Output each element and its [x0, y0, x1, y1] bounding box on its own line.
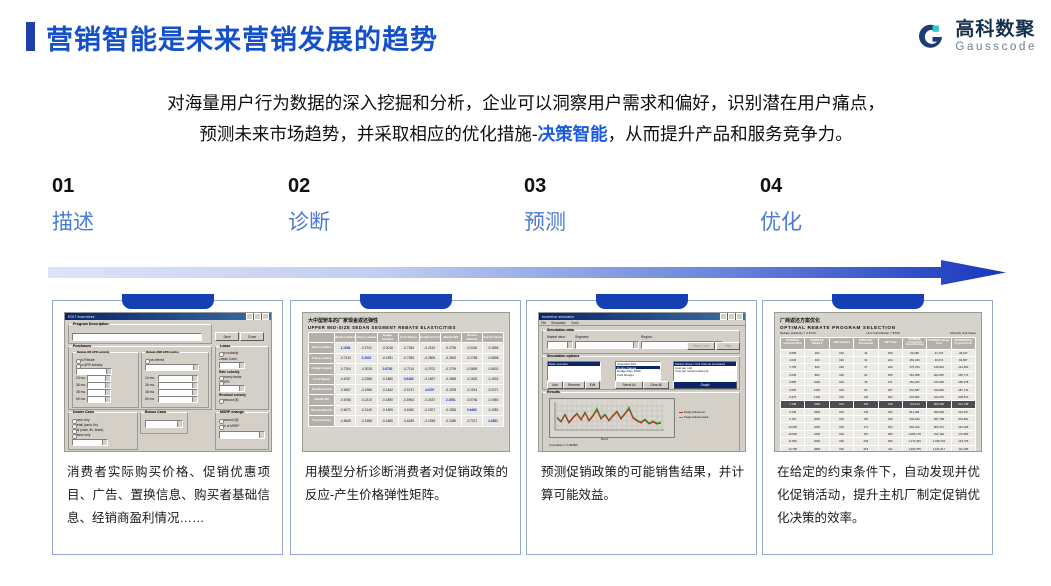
- table-row: 7.1951600190125318722,110509,300212,768: [781, 401, 976, 408]
- table-cell: 1,173,439: [902, 438, 926, 445]
- table-cell: -0.2207: [419, 405, 440, 415]
- table-row: Honda Accord-0.5497-0.1986-0.1642-0.5747…: [309, 384, 504, 394]
- table-cell: 1800: [805, 408, 829, 415]
- row-header: Dodge Intrepid: [309, 364, 335, 374]
- combo-term-36: 36 mo.: [145, 383, 155, 387]
- combo-60-input[interactable]: [158, 396, 198, 403]
- radio-apr[interactable]: APR: [219, 380, 230, 384]
- table-cell: -0.7204: [335, 364, 356, 374]
- table-cell: 140: [854, 408, 878, 415]
- table-cell: -0.2669: [440, 374, 461, 384]
- group-purchases: Purchases Rebate OR APR subsidy no Rebat…: [68, 346, 212, 410]
- table-cell: 190: [829, 445, 853, 452]
- table-cell: 812,381: [902, 408, 926, 415]
- combo-term-24: 24 mo.: [145, 376, 155, 380]
- table-row: 0.1152000190156349902,640697,798204,801: [781, 416, 976, 423]
- list-item[interactable]: Cost per incremental unit: [674, 369, 736, 373]
- group-title: Rebate AND APR combo: [145, 350, 180, 354]
- screenshot-optimal-rebate: 厂商返还方案优化 OPTIMAL REBATE PROGRAM SELECTIO…: [774, 312, 982, 452]
- column-header: FORECAST Incremental: [854, 337, 878, 349]
- group-rebate-apr: Rebate OR APR subsidy no Rebate no APR s…: [72, 352, 139, 408]
- step-02-label: 诊断: [288, 212, 518, 233]
- table-cell: 541,587: [902, 386, 926, 393]
- close-button[interactable]: Close: [240, 332, 264, 341]
- table-cell: 276,949: [927, 379, 951, 386]
- table-cell: -0.1642: [377, 384, 398, 394]
- table-cell: 204,287: [927, 371, 951, 378]
- correlation-text: (Correlation = 0.98386): [549, 443, 578, 447]
- window-title: EDIT incentives: [66, 315, 95, 319]
- table-cell: 190: [829, 430, 853, 437]
- group-simulation-options: Simulation options Base scenario Chevrol…: [542, 356, 740, 390]
- table-cell: -0.0690: [461, 364, 482, 374]
- table-cell: 190: [829, 386, 853, 393]
- radio-money-factor[interactable]: money factor: [219, 375, 241, 379]
- lead-line-1: 对海量用户行为数据的深入挖掘和分析，企业可以洞察用户需求和偏好，识别潜在用户痛点…: [167, 93, 885, 113]
- combo-term-60: 60 mo.: [145, 397, 155, 401]
- group-title: Program Description: [72, 322, 110, 326]
- table-cell: 255: [878, 371, 902, 378]
- term-24-input[interactable]: [87, 375, 111, 382]
- table-row: 0.8952001901620993,26841,71048,447: [781, 349, 976, 356]
- progress-arrow: [48, 258, 1008, 288]
- scenarios-listbox[interactable]: Base scenario: [547, 361, 601, 381]
- remove-button[interactable]: Remove: [563, 381, 585, 389]
- lead-line-2a: 预测未来市场趋势，并采取相应的优化措施-: [199, 124, 537, 144]
- table-cell: 204,801: [951, 416, 975, 423]
- table-header-row: EXTERNAL Customer Price INCENTIVE Rebate…: [781, 337, 976, 349]
- market-view-label: Market view:: [547, 335, 566, 339]
- card-optimize[interactable]: 厂商返还方案优化 OPTIMAL REBATE PROGRAM SELECTIO…: [762, 300, 993, 555]
- slide-header: 营销智能是未来营销发展的趋势 高科数聚 Gausscode: [0, 0, 1051, 70]
- table-cell: 16: [854, 349, 878, 356]
- table-cell: 156,771: [951, 371, 975, 378]
- radio-lease-only[interactable]: lease only: [72, 433, 90, 437]
- table-cell: 47: [854, 364, 878, 371]
- column-header: Dodge Intrepid: [377, 333, 398, 343]
- table-cell: 422,970: [927, 393, 951, 400]
- card-caption: 预测促销政策的可能销售结果，并计算可能效益。: [541, 461, 744, 507]
- table-cell: -0.7093: [398, 353, 419, 363]
- list-item[interactable]: Ford Ranger: [616, 373, 660, 377]
- menu-file[interactable]: File: [541, 321, 546, 325]
- group-regions: Region(s): Midwest Northeast Southeast S…: [271, 378, 272, 420]
- table-cell: 190: [829, 401, 853, 408]
- rate-input[interactable]: [219, 385, 245, 392]
- table-cell: 48,447: [951, 349, 975, 356]
- rebate-table: EXTERNAL Customer Price INCENTIVE Rebate…: [780, 337, 976, 453]
- group-title: Lease: [219, 344, 231, 348]
- term-48: 48 mo.: [76, 390, 86, 394]
- radio-retail[interactable]: retail (cash, fin): [72, 423, 98, 427]
- group-msrp-change: MSRP change amount ($) % of MSRP: [215, 412, 269, 450]
- table-cell: -0.6189: [398, 416, 419, 426]
- table-row: 10.0352200190171364992,910803,471191,028: [781, 423, 976, 430]
- step-01: 01 描述: [52, 176, 282, 233]
- table-cell: 10.535: [781, 430, 805, 437]
- table-row: Buick LeSabre1.1548-0.2742-0.2018-0.7254…: [309, 343, 504, 353]
- table-row: Toyota Camry-0.5645-0.1988-0.1680-0.6189…: [309, 416, 504, 426]
- table-cell: -0.5747: [398, 384, 419, 394]
- column-header: EXTERNAL Customer Price: [781, 337, 805, 349]
- table-row: 0.3751400190109302631,852422,970208,872: [781, 393, 976, 400]
- matrix-title-en: UPPER MID-SIZE SEDAN SEGMENT REBATE ELAS…: [308, 325, 504, 330]
- matrix-title-cn: 大中型轿车的厂家现金返还弹性: [308, 317, 504, 324]
- card-caption: 消费者实际购买价格、促销优惠项目、广告、置换信息、购买者基础信息、经销商盈利情况…: [67, 461, 270, 530]
- lease-cash-input[interactable]: [219, 362, 245, 369]
- segment-select[interactable]: [575, 341, 639, 349]
- table-cell: 0.195: [781, 408, 805, 415]
- chart-xlabel: Month: [601, 438, 608, 441]
- table-cell: 209: [878, 349, 902, 356]
- table-cell: -0.2742: [356, 343, 377, 353]
- combo-24-input[interactable]: [158, 375, 198, 382]
- table-row: 0.885100019078271451,023276,949180,378: [781, 379, 976, 386]
- table-row: Dodge Intrepid-0.7204-0.20280.8752-0.711…: [309, 364, 504, 374]
- table-cell: 11.845: [781, 438, 805, 445]
- column-header: Toyota Camry: [482, 333, 503, 343]
- table-cell: -0.2192: [419, 343, 440, 353]
- table-cell: 803,471: [927, 423, 951, 430]
- column-header: INCENTIVE Rebate $: [805, 337, 829, 349]
- step-03-label: 预测: [524, 212, 754, 233]
- radio-no-rebate[interactable]: no Rebate: [76, 358, 95, 362]
- list-item[interactable]: Base scenario: [548, 362, 600, 366]
- table-cell: 212,768: [951, 401, 975, 408]
- table-cell: 697,798: [927, 416, 951, 423]
- lead-highlight: 决策智能: [538, 124, 608, 144]
- select-all-button[interactable]: Select All: [615, 381, 643, 389]
- column-header: INCREMENTAL Program Profit: [951, 337, 975, 349]
- radio-amount[interactable]: amount ($): [219, 398, 238, 402]
- clear-all-button[interactable]: Clear All: [643, 381, 669, 389]
- table-cell: 2.2622: [356, 353, 377, 363]
- table-cell: -0.1500: [461, 374, 482, 384]
- table-cell: 109: [854, 393, 878, 400]
- table-cell: 318: [878, 401, 902, 408]
- table-cell: -0.0808: [482, 353, 503, 363]
- table-row: 0.665120019094287541,587342,846187,741: [781, 386, 976, 393]
- msrp-input[interactable]: [219, 431, 265, 439]
- table-cell: -0.2794: [440, 364, 461, 374]
- table-row: 1.73560019047240275,754145,842134,502: [781, 364, 976, 371]
- table-cell: -0.0602: [482, 364, 503, 374]
- legend-label: Dodge Dakota actual: [684, 416, 708, 419]
- gausscode-logo-icon: [914, 20, 948, 54]
- column-header: Ford Taurus: [398, 333, 419, 343]
- card-caption: 用模型分析诊断消费者对促销政策的反应-产生价格弹性矩阵。: [305, 461, 508, 507]
- table-cell: -0.2288: [356, 374, 377, 384]
- table-cell: -0.2602: [440, 353, 461, 363]
- table-cell: 600: [805, 364, 829, 371]
- table-cell: 275,754: [902, 364, 926, 371]
- edit-button[interactable]: Edit: [585, 381, 600, 389]
- card-predict[interactable]: Incentive simulator File Simulation Tool…: [526, 300, 757, 555]
- table-cell: 380: [878, 430, 902, 437]
- group-title: Simulation options: [546, 354, 580, 358]
- table-row: 0.1951800190140333812,381599,906212,427: [781, 408, 976, 415]
- card-caption: 在给定的约束条件下，自动发现并优化促销活动，提升主机厂制定促销优化决策的效率。: [777, 461, 980, 530]
- table-row: Chevy Lumina-0.73102.2622-0.1991-0.7093-…: [309, 353, 504, 363]
- table-cell: -0.2806: [419, 353, 440, 363]
- table-cell: -0.1914: [461, 384, 482, 394]
- table-cell: -0.0240: [461, 343, 482, 353]
- column-header: APR Incentive: [829, 337, 853, 349]
- table-cell: -0.2271: [482, 384, 503, 394]
- term-36-input[interactable]: [87, 382, 111, 389]
- table-cell: 0.375: [781, 393, 805, 400]
- table-cell: -0.7110: [398, 364, 419, 374]
- term-24: 24 mo.: [76, 376, 86, 380]
- row-header: Ford Taurus: [309, 374, 335, 384]
- radio-no-subsidy[interactable]: no subsidy: [219, 351, 238, 355]
- step-03: 03 预测: [524, 176, 754, 233]
- group-lease: Lease no subsidy Lease Cash: Rate subsid…: [215, 346, 269, 410]
- logo-text: 高科数聚 Gausscode: [955, 20, 1037, 54]
- card-row: EDIT incentives Program Description Purc…: [0, 297, 1051, 559]
- table-cell: 94: [854, 386, 878, 393]
- card-tab: [360, 294, 452, 309]
- table-cell: 1,263,705: [902, 445, 926, 452]
- table-cell: 1.1548: [335, 343, 356, 353]
- group-results: Results: [542, 392, 740, 452]
- table-cell: 0.665: [781, 386, 805, 393]
- rebate-title-en: OPTIMAL REBATE PROGRAM SELECTION: [780, 325, 976, 330]
- combo-48-input[interactable]: [158, 389, 198, 396]
- graph-button[interactable]: Graph: [673, 381, 737, 389]
- group-rebate-apr-combo: Rebate AND APR combo not offered 24 mo. …: [141, 352, 209, 408]
- brand-logo: 高科数聚 Gausscode: [914, 20, 1037, 54]
- table-cell: 224: [878, 356, 902, 363]
- table-cell: -0.7310: [335, 353, 356, 363]
- step-labels: 01 描述 02 诊断 03 预测 04 优化: [52, 176, 1000, 248]
- table-cell: -0.6062: [398, 405, 419, 415]
- step-02: 02 诊断: [288, 176, 518, 233]
- start-curve-button[interactable]: Start Curve: [687, 342, 715, 350]
- step-04-label: 优化: [760, 212, 990, 233]
- table-cell: 212,427: [951, 408, 975, 415]
- models-listbox[interactable]: Chevrolet S10 Dodge Dakota Dodge Ram 150…: [615, 361, 661, 381]
- bonus-cash-input[interactable]: [145, 420, 183, 428]
- table-row: Nissan Maxima-0.6071-0.2149-0.1869-0.606…: [309, 405, 504, 415]
- save-button[interactable]: Save: [215, 332, 239, 341]
- table-cell: 190: [829, 438, 853, 445]
- logo-text-en: Gausscode: [955, 42, 1037, 54]
- table-cell: 2800: [805, 445, 829, 452]
- table-cell: 200: [805, 349, 829, 356]
- table-cell: -0.1890: [377, 395, 398, 405]
- table-cell: -0.2702: [419, 364, 440, 374]
- step-01-number: 01: [52, 176, 282, 196]
- group-bonus-cash: Bonus Cash: [140, 412, 188, 434]
- table-cell: 218: [854, 445, 878, 452]
- group-title: MSRP change: [219, 410, 245, 414]
- table-cell: -0.1991: [377, 353, 398, 363]
- step-01-label: 描述: [52, 212, 282, 233]
- menu-tools[interactable]: Tools: [571, 321, 578, 325]
- table-cell: 992,910: [902, 423, 926, 430]
- step-04-number: 04: [760, 176, 990, 196]
- table-cell: -0.2293: [440, 384, 461, 394]
- table-cell: 631,852: [902, 393, 926, 400]
- table-cell: -0.1986: [356, 384, 377, 394]
- table-cell: 342,846: [927, 386, 951, 393]
- table-cell: 0.635: [781, 371, 805, 378]
- table-cell: 800: [805, 371, 829, 378]
- table-cell: 190: [829, 423, 853, 430]
- group-dealer-cash: Dealer Cash cash only retail (cash, fin)…: [68, 412, 138, 450]
- table-cell: 190: [829, 393, 853, 400]
- table-cell: -0.1936: [419, 416, 440, 426]
- table-cell: 451,023: [902, 379, 926, 386]
- table-cell: -0.1680: [377, 416, 398, 426]
- table-cell: -0.2794: [440, 343, 461, 353]
- rebate-value-input[interactable]: [76, 368, 112, 375]
- table-cell: 4.0257: [419, 384, 440, 394]
- radio-all[interactable]: all (cash, fin, lease): [72, 428, 103, 432]
- table-cell: 10.035: [781, 423, 805, 430]
- column-header: Honda Accord: [419, 333, 440, 343]
- table-cell: -0.2018: [377, 343, 398, 353]
- rebate-elasticity: Rebate elasticity = 0.8712: [780, 331, 816, 335]
- description-input[interactable]: [72, 333, 202, 341]
- table-cell: 41,710: [927, 349, 951, 356]
- group-title: Dealer Cash: [72, 410, 95, 414]
- region-label: Region:: [641, 335, 652, 339]
- table-cell: -0.6904: [398, 395, 419, 405]
- step-04: 04 优化: [760, 176, 990, 233]
- term-60-input[interactable]: [87, 396, 111, 403]
- combo-input[interactable]: [145, 364, 199, 371]
- table-cell: 2000: [805, 416, 829, 423]
- table-cell: 333: [878, 408, 902, 415]
- table-cell: 722,110: [902, 401, 926, 408]
- table-cell: 902,640: [902, 416, 926, 423]
- menu-simulation[interactable]: Simulation: [551, 321, 566, 325]
- column-header: Nissan Maxima: [461, 333, 482, 343]
- table-cell: 145,842: [927, 364, 951, 371]
- table-cell: 191,028: [951, 423, 975, 430]
- rebate-title-cn: 厂商返还方案优化: [780, 317, 976, 324]
- legend-label: Dodge Dakota est.: [684, 411, 705, 414]
- table-cell: -0.1960: [482, 395, 503, 405]
- radio-cash-only[interactable]: cash only: [72, 418, 89, 422]
- table-cell: 400: [805, 356, 829, 363]
- table-cell: 170,982: [951, 430, 975, 437]
- table-cell: 2600: [805, 438, 829, 445]
- market-view-select[interactable]: [547, 341, 573, 349]
- table-row: Ford Taurus-0.6787-0.2288-0.18600.9480-0…: [309, 374, 504, 384]
- table-row: 0.63580019062255361,058204,287156,771: [781, 371, 976, 378]
- group-title: Rebate OR APR subsidy: [76, 350, 110, 354]
- table-cell: 287: [878, 386, 902, 393]
- table-cell: -0.1860: [377, 374, 398, 384]
- table-cell: -0.1902: [482, 374, 503, 384]
- table-cell: 1400: [805, 393, 829, 400]
- legend-item-actual: Dodge Dakota actual: [679, 416, 708, 419]
- card-describe[interactable]: EDIT incentives Program Description Purc…: [52, 300, 283, 555]
- card-diagnose[interactable]: 大中型轿车的厂家现金返还弹性 UPPER MID-SIZE SEDAN SEGM…: [290, 300, 521, 555]
- row-header: Toyota Camry: [309, 416, 335, 426]
- card-tab: [596, 294, 688, 309]
- table-cell: 125: [854, 401, 878, 408]
- card-tab: [122, 294, 214, 309]
- combo-36-input[interactable]: [158, 382, 198, 389]
- table-cell: 184,329: [902, 356, 926, 363]
- table-cell: -0.1756: [461, 353, 482, 363]
- screenshot-incentive-editor: EDIT incentives Program Description Purc…: [64, 312, 272, 452]
- table-cell: 144,705: [951, 438, 975, 445]
- add-button[interactable]: Add: [547, 381, 563, 389]
- term-48-input[interactable]: [87, 389, 111, 396]
- table-cell: 1,151,617: [927, 445, 951, 452]
- residual-label: Residual subsidy: [219, 393, 246, 397]
- radio-no-apr[interactable]: no APR subsidy: [76, 363, 103, 367]
- table-cell: 7.195: [781, 401, 805, 408]
- table-cell: 134,502: [951, 364, 975, 371]
- table-cell: 1200: [805, 386, 829, 393]
- table-cell: 2400: [805, 430, 829, 437]
- card-tab: [832, 294, 924, 309]
- table-cell: -0.0766: [461, 395, 482, 405]
- table-cell: 364: [878, 423, 902, 430]
- table-cell: 190: [829, 349, 853, 356]
- radio-not-offered[interactable]: not offered: [145, 358, 164, 362]
- rebate-subheader: Rebate elasticity = 0.8712 Unit Contribu…: [780, 331, 976, 335]
- dealer-cash-input[interactable]: [72, 439, 108, 446]
- table-row: 1.02540019031224184,32949,67292,807: [781, 356, 976, 363]
- simulation-chart: [549, 398, 675, 438]
- stop-button[interactable]: Stop: [716, 342, 740, 350]
- outputs-listbox[interactable]: Market share / Unit Volume simulated Cos…: [673, 361, 737, 381]
- table-cell: -0.1982: [482, 405, 503, 415]
- table-cell: 171: [854, 423, 878, 430]
- radio-msrp-amount[interactable]: amount ($): [219, 418, 238, 422]
- group-save-incentives: Save incentives Model(s): Chevrolet 1500…: [271, 324, 272, 376]
- column-header: REVENUE Incremental Gross Revenue: [902, 337, 926, 349]
- table-cell: 187,741: [951, 386, 975, 393]
- table-cell: 190: [829, 379, 853, 386]
- step-02-number: 02: [288, 176, 518, 196]
- table-cell: 411: [878, 445, 902, 452]
- table-row: 11.84526001902033951,173,4391,028,722144…: [781, 438, 976, 445]
- row-header: Mazda 626: [309, 395, 335, 405]
- table-cell: 187: [854, 430, 878, 437]
- table-cell: -0.2830: [440, 405, 461, 415]
- column-header: Chevy Lumina: [356, 333, 377, 343]
- window-controls: [246, 313, 270, 320]
- column-header: Mazda 626: [440, 333, 461, 343]
- group-title: Bonus Cash: [144, 410, 167, 414]
- column-header: Buick LeSabre: [335, 333, 356, 343]
- table-cell: -0.1896: [482, 343, 503, 353]
- step-03-number: 03: [524, 176, 754, 196]
- group-title: Purchases: [72, 344, 92, 348]
- screenshot-incentive-simulator: Incentive simulator File Simulation Tool…: [538, 312, 746, 452]
- table-cell: 1.735: [781, 364, 805, 371]
- table-cell: 93,268: [902, 349, 926, 356]
- table-cell: 0.8752: [377, 364, 398, 374]
- row-header: Buick LeSabre: [309, 343, 335, 353]
- table-cell: -0.1869: [377, 405, 398, 415]
- table-cell: 78: [854, 379, 878, 386]
- table-cell: 208,872: [951, 393, 975, 400]
- radio-msrp-pct[interactable]: % of MSRP: [219, 424, 239, 428]
- table-cell: 912,184: [927, 430, 951, 437]
- table-cell: -0.5645: [335, 416, 356, 426]
- table-row: Mazda 626-0.6766-0.2210-0.1890-0.6904-0.…: [309, 395, 504, 405]
- table-cell: -0.2380: [440, 416, 461, 426]
